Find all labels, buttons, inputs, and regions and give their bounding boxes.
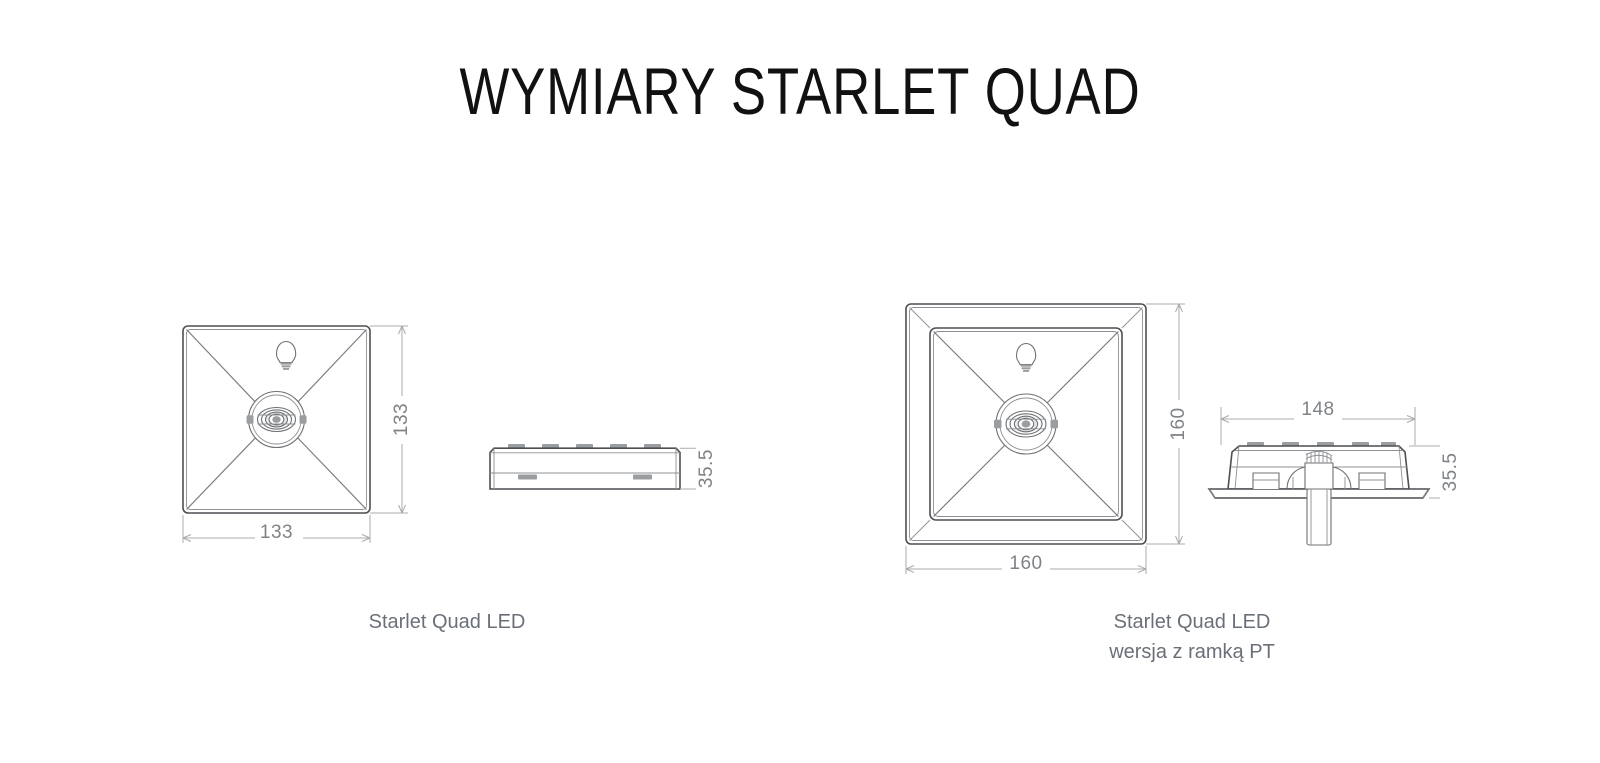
threaded-stem xyxy=(1305,451,1333,545)
dimension-height-133: 133 xyxy=(370,326,413,513)
dimension-left-profile-height: 35.5 xyxy=(680,442,718,496)
dimension-label-left-height: 133 xyxy=(391,403,412,436)
caption-right-line2: wersja z ramką PT xyxy=(992,637,1392,667)
figure-starlet-quad-led-top-view: 133 133 xyxy=(150,300,450,560)
dimension-label-left-width: 133 xyxy=(260,522,293,543)
dimension-label-right-width: 160 xyxy=(1009,553,1042,574)
side-profile-housing xyxy=(490,448,680,489)
caption-right-figure: Starlet Quad LED wersja z ramką PT xyxy=(992,607,1392,667)
figure-starlet-quad-led-side-view: 35.5 xyxy=(470,420,740,530)
caption-left-figure: Starlet Quad LED xyxy=(247,607,647,637)
dimension-label-right-profile-width: 148 xyxy=(1301,399,1334,420)
dimension-height-160: 160 xyxy=(1146,304,1190,544)
dimension-label-right-profile-height: 35.5 xyxy=(1440,453,1461,492)
dimension-right-profile-width: 148 xyxy=(1221,399,1415,445)
caption-left-line1: Starlet Quad LED xyxy=(247,607,647,637)
dimension-label-right-height: 160 xyxy=(1168,407,1189,440)
page-title: WYMIARY STARLET QUAD xyxy=(160,58,1440,124)
dimension-width-133: 133 xyxy=(183,515,370,543)
figure-starlet-quad-led-pt-side-view: 148 xyxy=(1195,385,1495,560)
figure-starlet-quad-led-pt-top-view: 160 160 xyxy=(880,280,1200,570)
dimension-width-160: 160 xyxy=(906,546,1146,574)
dimension-label-left-profile-height: 35.5 xyxy=(696,449,717,488)
caption-right-line1: Starlet Quad LED xyxy=(992,607,1392,637)
